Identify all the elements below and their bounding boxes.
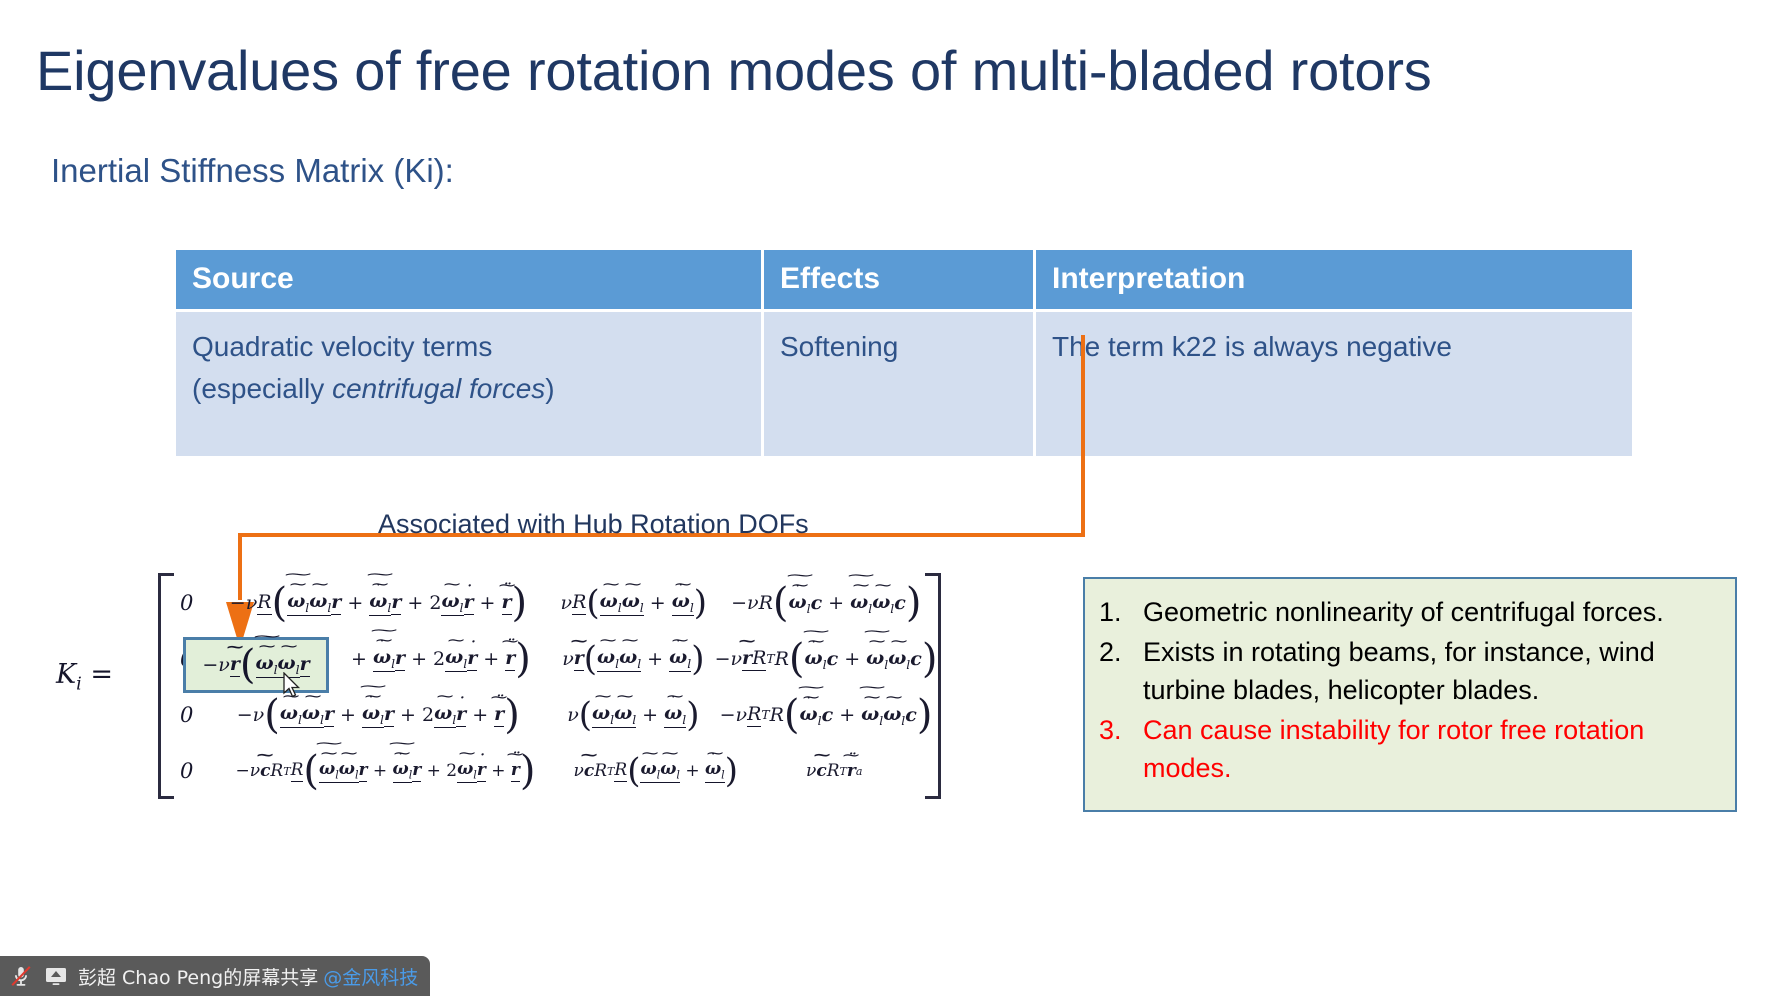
list-item-text: Exists in rotating beams, for instance, … — [1143, 633, 1717, 709]
table-header-source: Source — [176, 250, 764, 309]
matrix-cell: νr ( ωlωl + ωl ) — [543, 631, 724, 687]
list-item-number: 1. — [1099, 593, 1143, 631]
screenshare-label: 彭超 Chao Peng的屏幕共享 — [78, 963, 318, 990]
matrix-cell: −νrRTR ( ωlc + ωlωlc ) — [724, 631, 928, 687]
screenshare-handle: @金风科技 — [323, 963, 418, 990]
matrix-row: 0 −ν ( ωlωlr + ωlr + 2ωlr + r ) ν ( ωlωl… — [178, 687, 928, 743]
hub-rotation-annotation: Associated with Hub Rotation DOFs — [378, 509, 809, 540]
list-item-number: 2. — [1099, 633, 1143, 709]
slide-subtitle: Inertial Stiffness Matrix (Ki): — [51, 150, 454, 192]
table-header-effects: Effects — [764, 250, 1036, 309]
screen-share-icon[interactable] — [43, 963, 69, 989]
matrix-row: 0 −νcRTR ( ωlωlr + ωlr + 2ωlr + r ) νcRT… — [178, 743, 928, 799]
table-row: Quadratic velocity terms (especially cen… — [176, 312, 1632, 456]
notes-list: 1. Geometric nonlinearity of centrifugal… — [1099, 593, 1717, 787]
matrix-cell: 0 — [178, 687, 214, 743]
page-title: Eigenvalues of free rotation modes of mu… — [36, 36, 1736, 106]
presentation-slide: Eigenvalues of free rotation modes of mu… — [0, 0, 1768, 996]
cell-source-line2-italic: centrifugal forces — [332, 373, 545, 404]
matrix-label: Ki = — [56, 659, 113, 694]
cell-interpretation: The term k22 is always negative — [1036, 312, 1632, 456]
cell-source: Quadratic velocity terms (especially cen… — [176, 312, 764, 456]
matrix-cell: −νRTR ( ωlc + ωlωlc ) — [724, 687, 928, 743]
matrix-cell: 0 — [178, 743, 200, 799]
list-item: 3. Can cause instability for rotor free … — [1099, 711, 1717, 787]
list-item: 2. Exists in rotating beams, for instanc… — [1099, 633, 1717, 709]
matrix-cell: −ν ( ωlωlr + ωlr + 2ωlr + r ) — [214, 687, 543, 743]
list-item: 1. Geometric nonlinearity of centrifugal… — [1099, 593, 1717, 631]
cell-source-line2-suffix: ) — [545, 373, 554, 404]
list-item-number: 3. — [1099, 711, 1143, 787]
matrix-cell: ν ( ωlωl + ωl ) — [543, 687, 724, 743]
matrix-cell: νR ( ωlωl + ωl ) — [543, 575, 725, 631]
notes-callout-box: 1. Geometric nonlinearity of centrifugal… — [1083, 577, 1737, 812]
matrix-row: 0 −νR ( ωlωlr + ωlr + 2ωlr + r ) νR ( ωl… — [178, 575, 928, 631]
matrix-cell: νcRTra — [741, 743, 929, 799]
summary-table: Source Effects Interpretation Quadratic … — [176, 250, 1632, 456]
matrix-cell: 0 — [178, 575, 214, 631]
microphone-muted-icon[interactable] — [8, 963, 34, 989]
matrix-bracket-left — [158, 573, 174, 799]
matrix-cell: νcRTR ( ωlωl + ωl ) — [571, 743, 741, 799]
list-item-text: Geometric nonlinearity of centrifugal fo… — [1143, 593, 1664, 631]
list-item-text: Can cause instability for rotor free rot… — [1143, 711, 1717, 787]
cell-effects: Softening — [764, 312, 1036, 456]
cell-source-line1: Quadratic velocity terms — [192, 331, 492, 362]
matrix-cell: −νR ( ωlc + ωlωlc ) — [725, 575, 928, 631]
screenshare-status-bar[interactable]: 彭超 Chao Peng的屏幕共享 @金风科技 — [0, 956, 430, 996]
table-header-interpretation: Interpretation — [1036, 250, 1632, 309]
matrix-cell: −νcRTR ( ωlωlr + ωlr + 2ωlr + r ) — [200, 743, 571, 799]
matrix-term-highlight-content: −νr ( ωlωlr — [183, 637, 329, 693]
cell-source-line2-prefix: (especially — [192, 373, 332, 404]
table-header-row: Source Effects Interpretation — [176, 250, 1632, 309]
